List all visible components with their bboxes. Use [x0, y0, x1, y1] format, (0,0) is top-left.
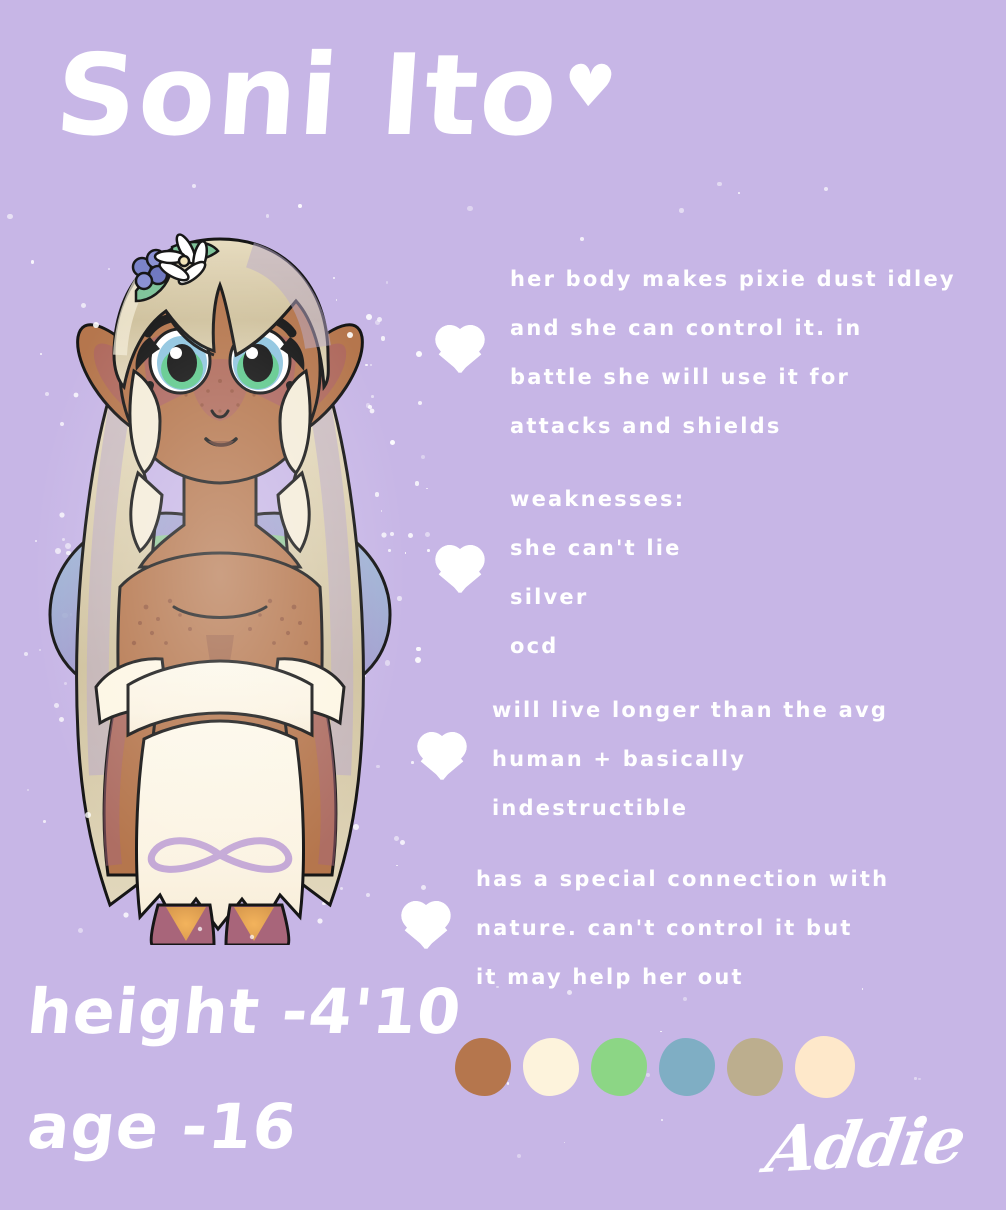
sparkle-dot [660, 1031, 662, 1033]
info-block-text: weaknesses: she can't lie silver ocd [510, 475, 685, 671]
sparkle-dot [564, 1142, 566, 1144]
sparkle-dot [467, 206, 472, 211]
info-block-lifespan: will live longer than the avg human + ba… [414, 686, 888, 833]
info-block-text: has a special connection with nature. ca… [476, 855, 889, 1002]
heart-bullet-icon [398, 903, 454, 955]
info-line: her body makes pixie dust idley [510, 255, 956, 304]
info-block-weaknesses: weaknesses: she can't lie silver ocd [432, 475, 685, 671]
info-line: ocd [510, 622, 685, 671]
palette-swatch-leaf-green [591, 1038, 647, 1096]
info-line: it may help her out [476, 953, 889, 1002]
info-line: nature. can't control it but [476, 904, 889, 953]
color-palette [455, 1036, 855, 1098]
sparkle-dot [914, 1077, 916, 1079]
heart-bullet-icon [432, 327, 488, 379]
fairy-character-svg [0, 215, 440, 945]
palette-swatch-skin-brown [455, 1038, 511, 1096]
info-block-abilities: her body makes pixie dust idley and she … [432, 255, 956, 451]
sparkle-dot [661, 1119, 664, 1122]
sparkle-dot [580, 237, 584, 241]
sparkle-dot [918, 1078, 920, 1080]
sparkle-dot [192, 184, 196, 188]
stat-height: height -4'10 [24, 975, 465, 1048]
info-block-text: will live longer than the avg human + ba… [492, 686, 888, 833]
info-line: silver [510, 573, 685, 622]
character-reference-sheet: Soni Ito♥ [0, 0, 1006, 1210]
info-line: has a special connection with [476, 855, 889, 904]
info-line: attacks and shields [510, 402, 956, 451]
palette-swatch-cream-white [523, 1038, 579, 1096]
heart-bullet-icon [432, 547, 488, 599]
info-block-nature: has a special connection with nature. ca… [398, 855, 889, 1002]
info-line: battle she will use it for [510, 353, 956, 402]
info-line: and she can control it. in [510, 304, 956, 353]
info-line: indestructible [492, 784, 888, 833]
sparkle-dot [738, 192, 740, 194]
sparkle-dot [517, 1154, 521, 1158]
info-line: will live longer than the avg [492, 686, 888, 735]
palette-swatch-wing-blue [659, 1038, 715, 1096]
sparkle-dot [824, 187, 828, 191]
character-name: Soni Ito [51, 31, 563, 161]
character-illustration [0, 215, 440, 945]
sparkle-dot [298, 204, 302, 208]
heart-bullet-icon [414, 734, 470, 786]
stat-age: age -16 [24, 1090, 301, 1163]
info-line: she can't lie [510, 524, 685, 573]
sparkle-dot [717, 182, 721, 186]
palette-swatch-hair-tan [727, 1038, 783, 1096]
sparkle-dot [679, 208, 683, 212]
palette-swatch-peach [795, 1036, 855, 1098]
title-heart-icon: ♥ [561, 52, 620, 120]
page-title: Soni Ito♥ [52, 40, 621, 152]
info-line: human + basically [492, 735, 888, 784]
artist-signature: Addie [761, 1103, 969, 1188]
info-block-text: her body makes pixie dust idley and she … [510, 255, 956, 451]
info-line: weaknesses: [510, 475, 685, 524]
